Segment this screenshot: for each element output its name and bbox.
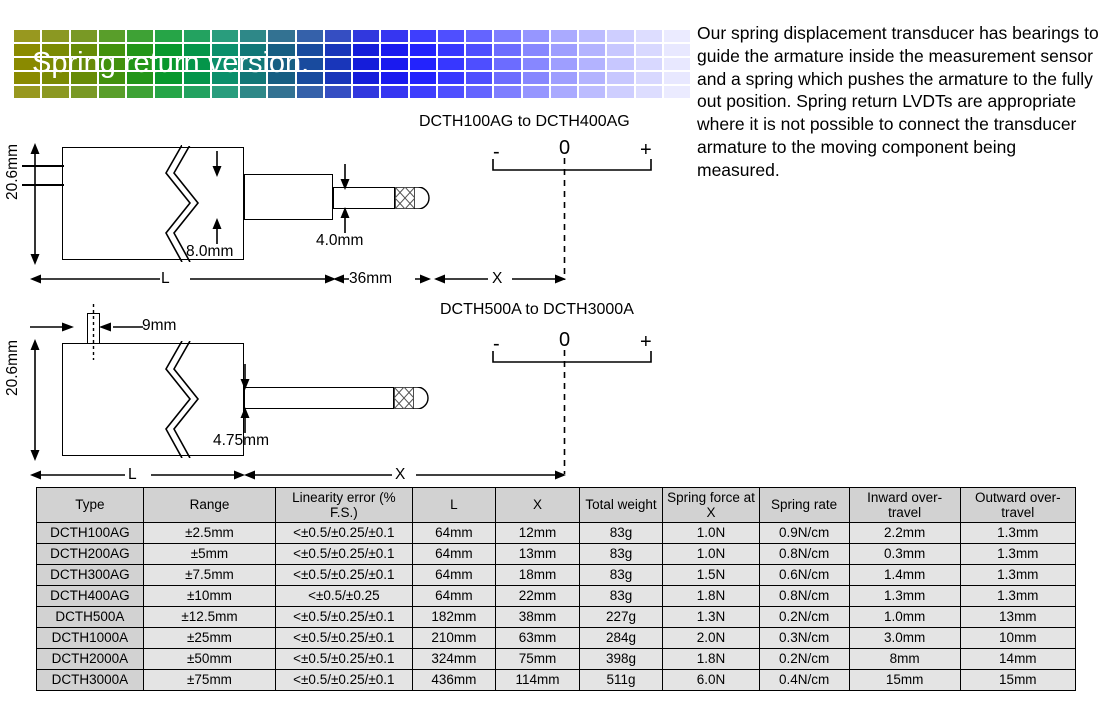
banner-cell [607, 86, 633, 98]
height-dimension-bottom [28, 339, 42, 461]
column-header-total-weight: Total weight [579, 488, 663, 523]
table-body: DCTH100AG±2.5mm<±0.5/±0.25/±0.164mm12mm8… [37, 523, 1076, 691]
banner-cell [551, 58, 577, 70]
cell-value: 13mm [496, 544, 580, 565]
banner-cell [381, 72, 407, 84]
banner-cell [494, 30, 520, 42]
cell-value: 22mm [496, 586, 580, 607]
banner-cell [466, 86, 492, 98]
banner-cell [494, 86, 520, 98]
drawing-bottom-caption: DCTH500A to DCTH3000A [440, 301, 634, 319]
banner-cell [579, 44, 605, 56]
cell-type: DCTH500A [37, 607, 144, 628]
cell-value: 75mm [496, 649, 580, 670]
scale-plus-top: + [640, 140, 652, 160]
height-dimension-top [28, 143, 42, 265]
cell-value: 64mm [412, 544, 496, 565]
cell-value: 1.8N [663, 586, 759, 607]
height-leader-tick-a-top [22, 165, 64, 167]
cell-value: 63mm [496, 628, 580, 649]
banner-cell [551, 86, 577, 98]
banner-cell [438, 72, 464, 84]
banner-cell [325, 30, 351, 42]
cell-value: <±0.5/±0.25/±0.1 [276, 565, 412, 586]
banner-cell [325, 58, 351, 70]
banner-cell [523, 58, 549, 70]
banner-cell [551, 44, 577, 56]
cell-value: 0.3N/cm [759, 628, 849, 649]
armature-arrow-up-top [339, 207, 351, 233]
banner-cell [297, 30, 323, 42]
banner-cell [14, 86, 40, 98]
cell-value: ±7.5mm [143, 565, 275, 586]
banner-cell [184, 86, 210, 98]
banner-cell [325, 86, 351, 98]
cell-value: 284g [579, 628, 663, 649]
armature-tip-top [414, 187, 430, 209]
banner-cell [71, 86, 97, 98]
cell-type: DCTH300AG [37, 565, 144, 586]
cell-value: <±0.5/±0.25/±0.1 [276, 628, 412, 649]
cell-type: DCTH400AG [37, 586, 144, 607]
cell-value: 0.3mm [849, 544, 960, 565]
cell-value: <±0.5/±0.25/±0.1 [276, 607, 412, 628]
column-header-range: Range [143, 488, 275, 523]
cell-value: 1.8N [663, 649, 759, 670]
banner-cell [268, 30, 294, 42]
banner-cell [410, 72, 436, 84]
cell-value: 398g [579, 649, 663, 670]
shoulder-length-label-top: 36mm [349, 271, 392, 287]
cell-value: <±0.5/±0.25/±0.1 [276, 649, 412, 670]
cell-value: 210mm [412, 628, 496, 649]
cell-value: 10mm [960, 628, 1075, 649]
cell-value: 1.3mm [960, 544, 1075, 565]
banner-cell [636, 58, 662, 70]
banner-cell [551, 30, 577, 42]
banner-cell [381, 30, 407, 42]
banner-cell [551, 72, 577, 84]
cell-value: 1.5N [663, 565, 759, 586]
cell-value: 0.2N/cm [759, 607, 849, 628]
connector-label-bottom: 9mm [142, 318, 176, 334]
banner-cell [353, 58, 379, 70]
armature-arrow-up-bottom [239, 407, 251, 433]
drawing-top-caption: DCTH100AG to DCTH400AG [419, 113, 630, 131]
drawing-bottom: DCTH500A to DCTH3000A 9mm 20.6mm [0, 296, 690, 486]
banner-cell [297, 86, 323, 98]
banner-cell [184, 30, 210, 42]
cell-value: 15mm [960, 670, 1075, 691]
height-leader-tick-b-top [22, 184, 64, 186]
stroke-label-top: X [492, 271, 502, 287]
cell-value: ±12.5mm [143, 607, 275, 628]
cell-value: 64mm [412, 586, 496, 607]
table-header-row: Type Range Linearity error (% F.S.) L X … [37, 488, 1076, 523]
armature-rod-bottom [244, 387, 394, 409]
cell-value: 1.3mm [960, 523, 1075, 544]
cell-value: 1.3mm [960, 565, 1075, 586]
banner-cell [579, 86, 605, 98]
banner-cell [636, 86, 662, 98]
cell-value: 114mm [496, 670, 580, 691]
banner-cell [523, 72, 549, 84]
cell-value: 3.0mm [849, 628, 960, 649]
scale-bracket-top [492, 158, 652, 172]
banner-cell [466, 58, 492, 70]
banner-cell [42, 86, 68, 98]
cell-value: <±0.5/±0.25 [276, 586, 412, 607]
armature-hatch-band-bottom [394, 387, 414, 409]
banner-cell [607, 44, 633, 56]
cell-value: 1.0mm [849, 607, 960, 628]
banner-cell [664, 44, 690, 56]
banner-cell [410, 86, 436, 98]
specifications-table: Type Range Linearity error (% F.S.) L X … [36, 487, 1076, 691]
column-header-outward-over-travel: Outward over-travel [960, 488, 1075, 523]
cell-value: 0.8N/cm [759, 586, 849, 607]
shoulder-thickness-label-top: 8.0mm [186, 244, 233, 260]
height-label-bottom: 20.6mm [4, 340, 22, 396]
cell-value: 6.0N [663, 670, 759, 691]
banner-cell [523, 86, 549, 98]
column-header-linearity-error: Linearity error (% F.S.) [276, 488, 412, 523]
insertion-arrow-bottom [30, 321, 74, 333]
scale-zero-bottom: 0 [559, 330, 570, 350]
cell-value: ±5mm [143, 544, 275, 565]
cell-value: 2.0N [663, 628, 759, 649]
cell-type: DCTH2000A [37, 649, 144, 670]
cell-value: 64mm [412, 523, 496, 544]
banner-cell [466, 44, 492, 56]
cell-value: 1.3mm [849, 586, 960, 607]
cell-value: 2.2mm [849, 523, 960, 544]
banner-cell [410, 44, 436, 56]
connector-centerline-bottom [92, 304, 95, 360]
cell-value: 324mm [412, 649, 496, 670]
column-header-spring-rate: Spring rate [759, 488, 849, 523]
cell-value: <±0.5/±0.25/±0.1 [276, 523, 412, 544]
banner-cell [664, 58, 690, 70]
cell-type: DCTH200AG [37, 544, 144, 565]
banner-cell [240, 30, 266, 42]
column-header-spring-force: Spring force at X [663, 488, 759, 523]
table-row: DCTH400AG±10mm<±0.5/±0.2564mm22mm83g1.8N… [37, 586, 1076, 607]
banner-cell [268, 86, 294, 98]
banner-cell [579, 58, 605, 70]
banner-cell [353, 86, 379, 98]
banner-cell [636, 72, 662, 84]
cell-value: 64mm [412, 565, 496, 586]
banner-cell [579, 30, 605, 42]
table-row: DCTH200AG±5mm<±0.5/±0.25/±0.164mm13mm83g… [37, 544, 1076, 565]
cell-value: 8mm [849, 649, 960, 670]
column-header-x: X [496, 488, 580, 523]
banner-cell [579, 72, 605, 84]
connector-arrow-bottom [99, 321, 143, 333]
length-label-bottom: L [128, 467, 137, 483]
cell-value: ±2.5mm [143, 523, 275, 544]
banner-cell [212, 86, 238, 98]
cell-value: 511g [579, 670, 663, 691]
cell-value: 13mm [960, 607, 1075, 628]
cell-value: ±25mm [143, 628, 275, 649]
cell-value: 182mm [412, 607, 496, 628]
shoulder-arrow-down-top [211, 151, 223, 177]
cell-value: 18mm [496, 565, 580, 586]
shoulder-block-top [244, 174, 333, 220]
banner-cell [155, 86, 181, 98]
cell-type: DCTH100AG [37, 523, 144, 544]
drawing-top: DCTH100AG to DCTH400AG 20.6mm 8.0mm [0, 108, 690, 288]
banner-cell [42, 30, 68, 42]
length-dimension-bottom [30, 469, 245, 481]
armature-arrow-down-bottom [239, 364, 251, 390]
armature-hatch-band-top [395, 187, 415, 209]
shoulder-arrow-up-top [211, 218, 223, 244]
banner-cell [127, 30, 153, 42]
scale-plus-bottom: + [640, 332, 652, 352]
cell-value: 1.4mm [849, 565, 960, 586]
cell-value: <±0.5/±0.25/±0.1 [276, 670, 412, 691]
cell-value: 436mm [412, 670, 496, 691]
cell-value: 0.6N/cm [759, 565, 849, 586]
banner-cell [14, 30, 40, 42]
cell-value: 83g [579, 565, 663, 586]
banner-cell [607, 72, 633, 84]
length-dimension-top [30, 273, 336, 285]
banner-cell [466, 30, 492, 42]
banner-cell [636, 44, 662, 56]
banner-cell [438, 30, 464, 42]
cell-value: 227g [579, 607, 663, 628]
banner-cell [494, 44, 520, 56]
banner-cell [155, 30, 181, 42]
armature-diameter-label-top: 4.0mm [316, 233, 363, 249]
cell-value: 83g [579, 523, 663, 544]
intro-paragraph: Our spring displacement transducer has b… [697, 22, 1099, 181]
armature-arrow-down-top [339, 164, 351, 190]
cell-value: 0.2N/cm [759, 649, 849, 670]
cell-value: 1.0N [663, 544, 759, 565]
cell-value: 14mm [960, 649, 1075, 670]
banner-cell [607, 58, 633, 70]
cell-value: ±10mm [143, 586, 275, 607]
banner-cell [523, 30, 549, 42]
height-label-top: 20.6mm [4, 144, 22, 200]
scale-bracket-bottom [492, 350, 652, 364]
banner-cell [410, 58, 436, 70]
banner-cell [381, 44, 407, 56]
cell-value: ±75mm [143, 670, 275, 691]
banner-cell [325, 72, 351, 84]
banner-cell [438, 58, 464, 70]
banner-cell [523, 44, 549, 56]
scale-zero-top: 0 [559, 138, 570, 158]
cell-value: 15mm [849, 670, 960, 691]
banner-cell [466, 72, 492, 84]
table-row: DCTH100AG±2.5mm<±0.5/±0.25/±0.164mm12mm8… [37, 523, 1076, 544]
banner-cell [607, 30, 633, 42]
header-banner: Spring return version. [14, 30, 690, 98]
banner-cell [353, 72, 379, 84]
banner-cell [636, 30, 662, 42]
banner-cell [664, 72, 690, 84]
table-row: DCTH3000A±75mm<±0.5/±0.25/±0.1436mm114mm… [37, 670, 1076, 691]
cell-value: ±50mm [143, 649, 275, 670]
cell-type: DCTH3000A [37, 670, 144, 691]
stroke-label-bottom: X [395, 467, 405, 483]
banner-cell [438, 44, 464, 56]
banner-cell [664, 30, 690, 42]
banner-cell [325, 44, 351, 56]
column-header-inward-over-travel: Inward over-travel [849, 488, 960, 523]
banner-cell [410, 30, 436, 42]
cell-value: 38mm [496, 607, 580, 628]
banner-cell [494, 72, 520, 84]
table-row: DCTH2000A±50mm<±0.5/±0.25/±0.1324mm75mm3… [37, 649, 1076, 670]
cell-type: DCTH1000A [37, 628, 144, 649]
cell-value: 0.9N/cm [759, 523, 849, 544]
banner-cell [494, 58, 520, 70]
banner-cell [212, 30, 238, 42]
banner-cell [438, 86, 464, 98]
banner-cell [127, 86, 153, 98]
armature-diameter-label-bottom: 4.75mm [213, 433, 269, 449]
armature-tip-bottom [413, 387, 429, 409]
table-row: DCTH500A±12.5mm<±0.5/±0.25/±0.1182mm38mm… [37, 607, 1076, 628]
banner-cell [381, 86, 407, 98]
break-symbol-bottom [160, 341, 212, 458]
cell-value: 1.3N [663, 607, 759, 628]
table-row: DCTH300AG±7.5mm<±0.5/±0.25/±0.164mm18mm8… [37, 565, 1076, 586]
cell-value: 0.4N/cm [759, 670, 849, 691]
zero-centerline-top [563, 158, 566, 280]
banner-title: Spring return version. [32, 49, 309, 78]
banner-cell [99, 86, 125, 98]
column-header-l: L [412, 488, 496, 523]
armature-rod-top [333, 187, 395, 209]
cell-value: 83g [579, 544, 663, 565]
banner-cell [353, 30, 379, 42]
table-row: DCTH1000A±25mm<±0.5/±0.25/±0.1210mm63mm2… [37, 628, 1076, 649]
zero-centerline-bottom [563, 350, 566, 474]
banner-cell [99, 30, 125, 42]
banner-cell [664, 86, 690, 98]
cell-value: <±0.5/±0.25/±0.1 [276, 544, 412, 565]
cell-value: 12mm [496, 523, 580, 544]
cell-value: 0.8N/cm [759, 544, 849, 565]
banner-cell [381, 58, 407, 70]
banner-cell [71, 30, 97, 42]
banner-cell [353, 44, 379, 56]
cell-value: 1.3mm [960, 586, 1075, 607]
cell-value: 1.0N [663, 523, 759, 544]
banner-cell [240, 86, 266, 98]
column-header-type: Type [37, 488, 144, 523]
length-label-top: L [161, 271, 170, 287]
cell-value: 83g [579, 586, 663, 607]
